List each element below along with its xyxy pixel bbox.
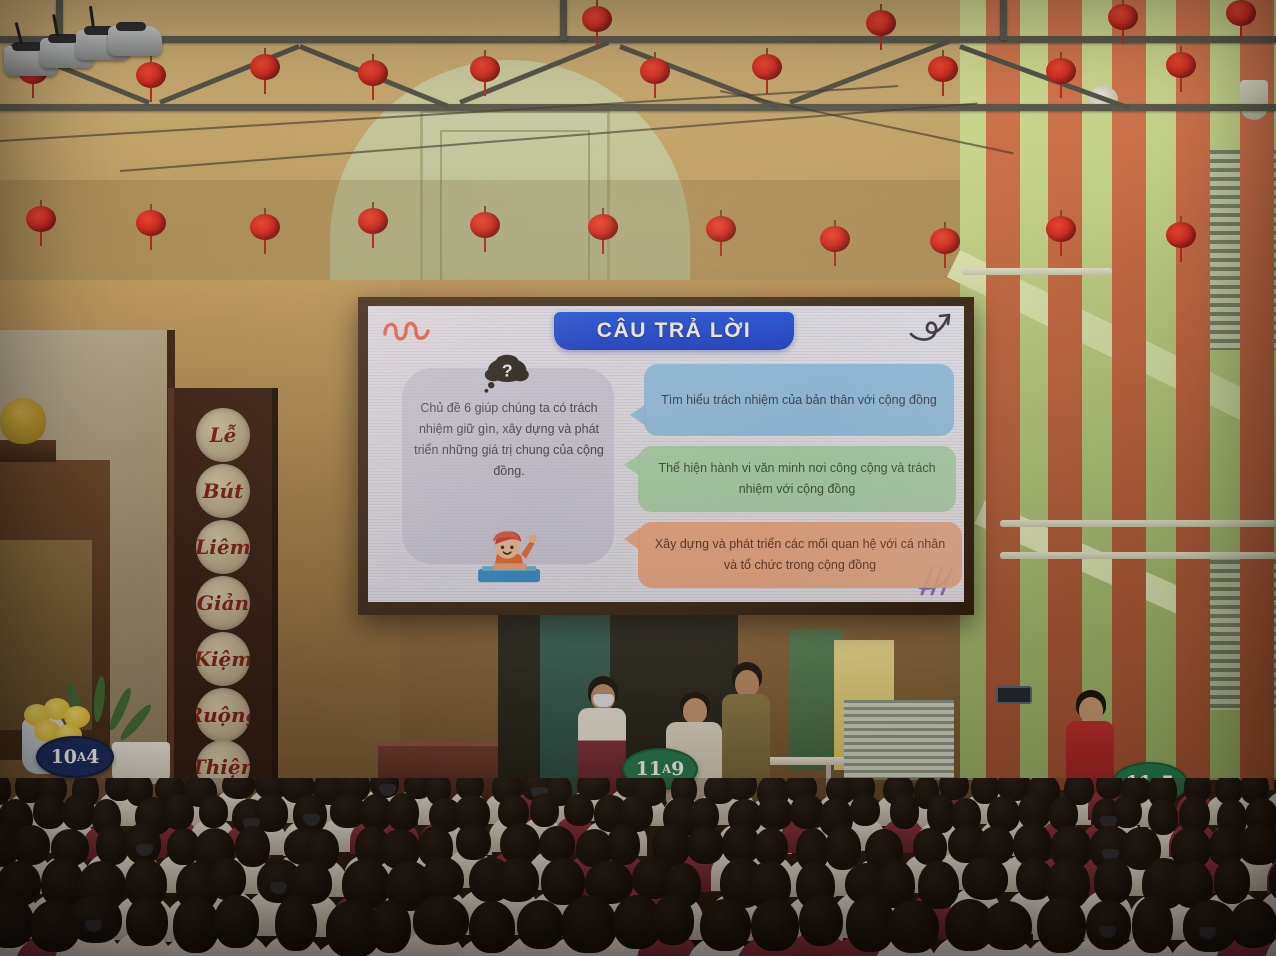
student-head <box>173 897 219 952</box>
lantern <box>470 56 500 82</box>
student-head <box>890 793 919 828</box>
lantern <box>250 54 280 80</box>
student-head <box>982 901 1032 950</box>
student-head <box>1086 900 1131 950</box>
lantern <box>588 214 618 240</box>
motorbike-seat <box>12 42 42 51</box>
pillar <box>1048 0 1082 790</box>
lantern <box>866 10 896 36</box>
motorbike-seat <box>116 22 146 31</box>
student-head <box>700 899 750 951</box>
curved-arrow-doodle <box>908 312 954 346</box>
calligraphy-medallion: Bút <box>196 464 250 518</box>
student-head <box>561 896 617 954</box>
student-head <box>164 794 194 831</box>
student-head <box>564 794 594 826</box>
led-screen-display[interactable]: CÂU TRẢ LỜI ? Chủ đề 6 giúp chúng ta có … <box>368 306 964 602</box>
student-head <box>799 895 843 946</box>
led-screen-bezel: CÂU TRẢ LỜI ? Chủ đề 6 giúp chúng ta có … <box>358 297 974 615</box>
pillar <box>986 0 1020 790</box>
student-head <box>96 825 129 865</box>
calligraphy-medallion: Kiệm <box>196 632 250 686</box>
lantern <box>1226 0 1256 26</box>
lantern <box>1046 216 1076 242</box>
answer-bubble-1-text: Tìm hiểu trách nhiệm của bản thân với cộ… <box>661 390 937 411</box>
lantern <box>358 60 388 86</box>
class-sign-index: 9 <box>671 758 684 780</box>
student-head <box>209 858 246 900</box>
calligraphy-medallion: Ruộng <box>196 688 250 742</box>
calligraphy-medallion: Giản <box>196 576 250 630</box>
lantern <box>136 62 166 88</box>
student-head <box>235 826 270 867</box>
answer-bubble-1: Tìm hiểu trách nhiệm của bản thân với cộ… <box>644 364 954 436</box>
slide-title-banner: CÂU TRẢ LỜI <box>554 312 794 350</box>
calligraphy-medallion: Lễ <box>196 408 250 462</box>
student-head <box>496 858 538 902</box>
lantern <box>640 58 670 84</box>
student-head <box>275 895 317 952</box>
student-head <box>913 828 948 865</box>
wall-device <box>996 686 1032 704</box>
lantern <box>1046 58 1076 84</box>
head <box>683 698 707 724</box>
head <box>1079 697 1103 723</box>
calligraphy-medallion: Liêm <box>196 520 250 574</box>
memorial-bust <box>0 398 46 444</box>
student-head <box>1230 899 1276 948</box>
student-head <box>1238 824 1276 865</box>
student-head <box>888 900 939 953</box>
student-head <box>214 895 259 948</box>
class-sign-letter: A <box>662 762 671 776</box>
lantern <box>930 228 960 254</box>
class-sign-index: 4 <box>86 746 99 768</box>
leaf <box>92 676 107 723</box>
student-head <box>850 794 880 826</box>
lantern <box>26 206 56 232</box>
student-head <box>456 823 490 860</box>
truss-rail-top <box>0 36 1276 43</box>
pillar <box>1112 0 1146 790</box>
prompt-bubble-text: Chủ đề 6 giúp chúng ta có trách nhiệm gi… <box>406 398 612 482</box>
class-sign-letter: A <box>77 750 86 764</box>
student-head <box>62 794 95 830</box>
answer-bubble-2-text: Thể hiện hành vi văn minh nơi công cộng … <box>654 458 940 500</box>
truss-post <box>560 0 567 40</box>
student-head <box>1132 896 1173 953</box>
question-mark-thought-cloud-icon: ? <box>480 354 536 394</box>
class-sign-10a4: 10A4 <box>36 736 114 778</box>
wall-panel <box>844 700 954 780</box>
student-head <box>607 824 640 865</box>
lantern <box>358 208 388 234</box>
lantern <box>1108 4 1138 30</box>
railing <box>1000 520 1276 527</box>
student-head <box>1112 795 1141 829</box>
lantern <box>250 214 280 240</box>
student-head <box>517 900 564 949</box>
student-head <box>652 895 694 944</box>
lantern <box>928 56 958 82</box>
student-head <box>199 795 229 829</box>
lantern <box>752 54 782 80</box>
student-head <box>254 794 289 831</box>
motorbike-seat <box>48 34 78 43</box>
student-head <box>962 857 1008 900</box>
slide-title-text: CÂU TRẢ LỜI <box>597 319 752 343</box>
lantern <box>1166 222 1196 248</box>
student-head <box>1214 858 1251 904</box>
bubble-tail <box>624 454 640 476</box>
student-head <box>33 793 66 830</box>
student-head <box>1094 858 1132 904</box>
student-head <box>421 857 464 901</box>
railing <box>1000 552 1276 559</box>
student-head <box>126 897 167 945</box>
lantern <box>470 212 500 238</box>
class-sign-number: 10 <box>51 746 77 768</box>
student-audience-crowd <box>0 778 1276 956</box>
railing <box>962 268 1112 275</box>
student-head <box>387 793 419 831</box>
answer-bubble-3: Xây dựng và phát triển các mối quan hệ v… <box>638 522 962 588</box>
student-head <box>222 778 255 799</box>
wall-lamp <box>1240 80 1268 120</box>
student-head <box>12 825 51 866</box>
student-head <box>69 895 122 943</box>
head <box>735 670 759 697</box>
lantern <box>136 210 166 236</box>
student-head <box>370 900 412 953</box>
student-head <box>751 899 799 950</box>
truss-post <box>1000 0 1007 40</box>
student-head <box>757 796 793 831</box>
student-head <box>539 826 576 863</box>
answer-bubble-2: Thể hiện hành vi văn minh nơi công cộng … <box>638 446 956 512</box>
lantern <box>582 6 612 32</box>
student-head <box>530 793 560 828</box>
pillar <box>1176 0 1210 790</box>
bubble-tail <box>630 404 646 426</box>
svg-text:?: ? <box>502 360 513 380</box>
truss-rail-bottom <box>0 104 1276 111</box>
student-head <box>469 901 515 953</box>
lantern <box>1166 52 1196 78</box>
photo-scene: Lễ Bút Liêm Giản Kiệm Ruộng Thiện <box>0 0 1276 956</box>
student-head <box>413 896 468 945</box>
student-head <box>1037 897 1086 953</box>
student-head <box>825 826 861 869</box>
lantern <box>820 226 850 252</box>
raising-hand-student-illustration <box>472 522 548 584</box>
lantern <box>706 216 736 242</box>
red-squiggle-doodle <box>382 316 432 346</box>
student-head <box>725 778 756 800</box>
student-head <box>687 826 723 864</box>
calligraphy-panel: Lễ Bút Liêm Giản Kiệm Ruộng Thiện <box>168 388 278 788</box>
bubble-tail <box>624 528 640 550</box>
class-sign-number: 11 <box>636 758 662 780</box>
answer-bubble-3-text: Xây dựng và phát triển các mối quan hệ v… <box>654 534 946 576</box>
